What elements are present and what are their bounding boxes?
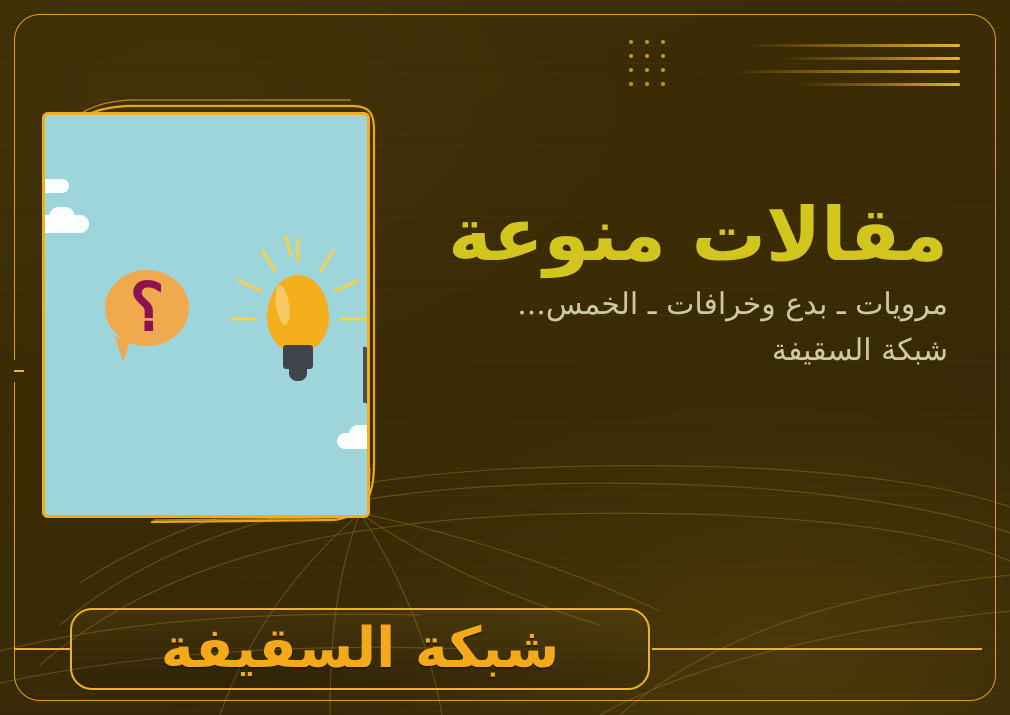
banner-rule-left <box>14 648 72 650</box>
headline-block: مقالات منوعة مرويات ـ بدع وخرافات ـ الخم… <box>388 196 948 375</box>
page-title: مقالات منوعة <box>388 196 948 276</box>
page-subtitle: مرويات ـ بدع وخرافات ـ الخمس... شبكة الس… <box>388 282 948 375</box>
accent-lines-decoration <box>600 44 960 90</box>
frame-left-tick <box>14 370 24 372</box>
brand-name: شبكة السقيفة <box>161 621 560 677</box>
question-mark-icon: ؟ <box>105 267 189 347</box>
bulb-tip <box>289 367 307 381</box>
light-bulb-icon <box>267 275 329 351</box>
cloud-icon <box>49 207 75 227</box>
illustration-scene: ؟ <box>42 112 370 518</box>
subtitle-line-1: مرويات ـ بدع وخرافات ـ الخمس... <box>517 287 948 322</box>
brand-banner: شبكة السقيفة <box>70 608 650 690</box>
subtitle-line-2: شبكة السقيفة <box>388 328 948 375</box>
poster-canvas: ؟ <box>0 0 1010 715</box>
cloud-icon <box>349 425 370 443</box>
bulb-base <box>283 345 313 369</box>
cloud-icon <box>42 179 69 193</box>
illustration-card: ؟ <box>34 96 380 528</box>
banner-rule-right <box>652 648 982 650</box>
